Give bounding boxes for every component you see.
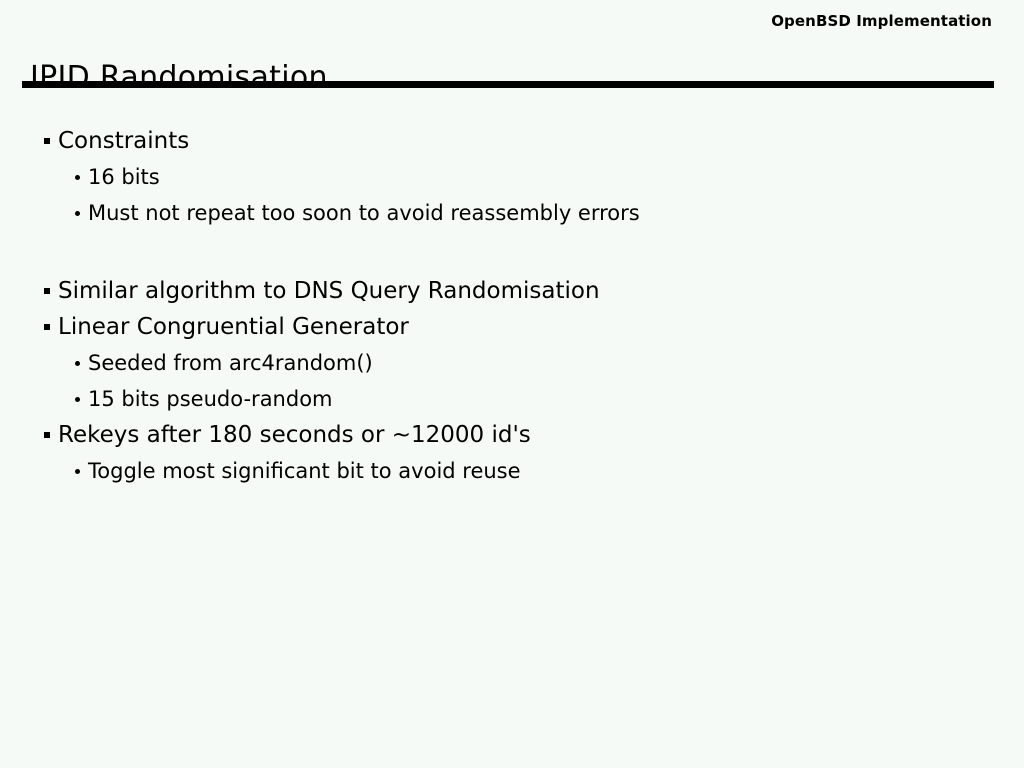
bullet-item-level-2: 16 bits — [0, 159, 1024, 195]
bullet-text: 15 bits pseudo-random — [88, 387, 333, 411]
round-bullet-icon — [75, 175, 80, 180]
bullet-text: Must not repeat too soon to avoid reasse… — [88, 201, 640, 225]
round-bullet-icon — [75, 397, 80, 402]
bullet-text: Linear Congruential Generator — [58, 314, 409, 340]
bullet-item-level-2: Must not repeat too soon to avoid reasse… — [0, 195, 1024, 231]
bullet-text: Similar algorithm to DNS Query Randomisa… — [58, 278, 600, 304]
bullet-text: Seeded from arc4random() — [88, 351, 373, 375]
square-bullet-icon — [44, 138, 50, 144]
bullet-item-level-1: Linear Congruential Generator — [0, 309, 1024, 345]
bullet-text: Constraints — [58, 128, 189, 154]
slide-header-label: OpenBSD Implementation — [771, 12, 992, 30]
bullet-item-level-2: Seeded from arc4random() — [0, 345, 1024, 381]
title-divider — [22, 81, 994, 88]
bullet-text: Rekeys after 180 seconds or ~12000 id's — [58, 422, 531, 448]
bullet-item-level-2: 15 bits pseudo-random — [0, 381, 1024, 417]
bullet-item-level-2: Toggle most significant bit to avoid reu… — [0, 453, 1024, 489]
bullet-text: Toggle most significant bit to avoid reu… — [88, 459, 521, 483]
round-bullet-icon — [75, 469, 80, 474]
square-bullet-icon — [44, 432, 50, 438]
bullet-list: Constraints16 bitsMust not repeat too so… — [0, 123, 1024, 489]
slide: OpenBSD Implementation IPID Randomisatio… — [0, 0, 1024, 768]
bullet-spacer — [0, 231, 1024, 273]
page-title: IPID Randomisation — [30, 60, 328, 95]
bullet-item-level-1: Rekeys after 180 seconds or ~12000 id's — [0, 417, 1024, 453]
round-bullet-icon — [75, 361, 80, 366]
square-bullet-icon — [44, 288, 50, 294]
square-bullet-icon — [44, 324, 50, 330]
round-bullet-icon — [75, 211, 80, 216]
bullet-item-level-1: Constraints — [0, 123, 1024, 159]
bullet-text: 16 bits — [88, 165, 160, 189]
bullet-item-level-1: Similar algorithm to DNS Query Randomisa… — [0, 273, 1024, 309]
